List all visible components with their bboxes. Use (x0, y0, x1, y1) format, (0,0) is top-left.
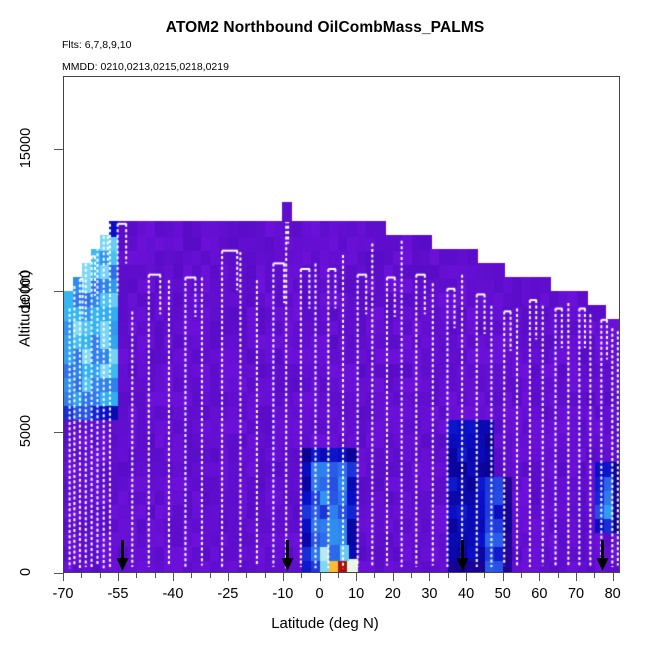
x-tick-label-10: 50 (495, 586, 511, 602)
x-tick-major-8 (429, 573, 430, 581)
x-tick-major-13 (613, 573, 614, 581)
x-tick-label-3: -25 (217, 586, 238, 602)
x-tick-major-4 (283, 573, 284, 581)
profile-arrow-1 (281, 540, 294, 571)
x-tick-major-7 (393, 573, 394, 581)
x-tick-major-10 (503, 573, 504, 581)
x-tick-label-11: 60 (531, 586, 547, 602)
x-tick-minor-0 (81, 573, 82, 578)
y-tick-label-1: 5000 (18, 405, 34, 457)
x-tick-label-7: 20 (385, 586, 401, 602)
x-tick-minor-9 (338, 573, 339, 578)
y-axis-title: Altitude (m) (17, 229, 34, 389)
x-tick-major-9 (466, 573, 467, 581)
profile-arrow-0 (116, 540, 129, 571)
y-tick-label-0: 0 (18, 546, 34, 598)
x-tick-minor-7 (265, 573, 266, 578)
x-tick-minor-8 (301, 573, 302, 578)
dates-annotation: MMDD: 0210,0213,0215,0218,0219 (62, 61, 229, 73)
y-tick-major-1 (54, 432, 63, 433)
y-tick-major-2 (54, 291, 63, 292)
profile-arrow-3 (596, 540, 609, 571)
x-tick-label-6: 10 (348, 586, 364, 602)
x-tick-label-5: 0 (315, 586, 323, 602)
x-tick-label-4: -10 (272, 586, 293, 602)
x-tick-minor-11 (411, 573, 412, 578)
x-tick-minor-3 (155, 573, 156, 578)
plot-root: ATOM2 Northbound OilCombMass_PALMS Flts:… (0, 0, 650, 650)
plot-area (63, 76, 620, 573)
x-tick-minor-12 (448, 573, 449, 578)
x-tick-minor-6 (246, 573, 247, 578)
profile-arrow-2 (456, 540, 469, 571)
x-tick-major-11 (539, 573, 540, 581)
page-title: ATOM2 Northbound OilCombMass_PALMS (0, 19, 650, 37)
x-tick-minor-2 (136, 573, 137, 578)
x-tick-minor-5 (210, 573, 211, 578)
x-tick-minor-16 (594, 573, 595, 578)
x-tick-minor-15 (558, 573, 559, 578)
x-tick-label-0: -70 (53, 586, 74, 602)
y-tick-major-3 (54, 149, 63, 150)
x-tick-label-8: 30 (421, 586, 437, 602)
x-tick-minor-4 (191, 573, 192, 578)
x-tick-major-3 (228, 573, 229, 581)
x-tick-label-12: 70 (568, 586, 584, 602)
x-tick-label-2: -40 (162, 586, 183, 602)
x-tick-major-12 (576, 573, 577, 581)
x-tick-major-5 (320, 573, 321, 581)
y-tick-major-0 (54, 573, 63, 574)
x-tick-minor-1 (100, 573, 101, 578)
x-tick-major-2 (173, 573, 174, 581)
x-tick-major-1 (118, 573, 119, 581)
x-tick-major-6 (356, 573, 357, 581)
x-tick-minor-10 (374, 573, 375, 578)
curtain-heatmap (64, 77, 620, 573)
x-axis-title: Latitude (deg N) (0, 615, 650, 632)
x-tick-minor-14 (521, 573, 522, 578)
x-tick-minor-13 (484, 573, 485, 578)
x-tick-major-0 (63, 573, 64, 581)
y-tick-label-3: 15000 (18, 122, 34, 174)
x-tick-label-9: 40 (458, 586, 474, 602)
x-tick-label-13: 80 (605, 586, 621, 602)
flights-annotation: Flts: 6,7,8,9,10 (62, 39, 131, 51)
x-tick-label-1: -55 (107, 586, 128, 602)
